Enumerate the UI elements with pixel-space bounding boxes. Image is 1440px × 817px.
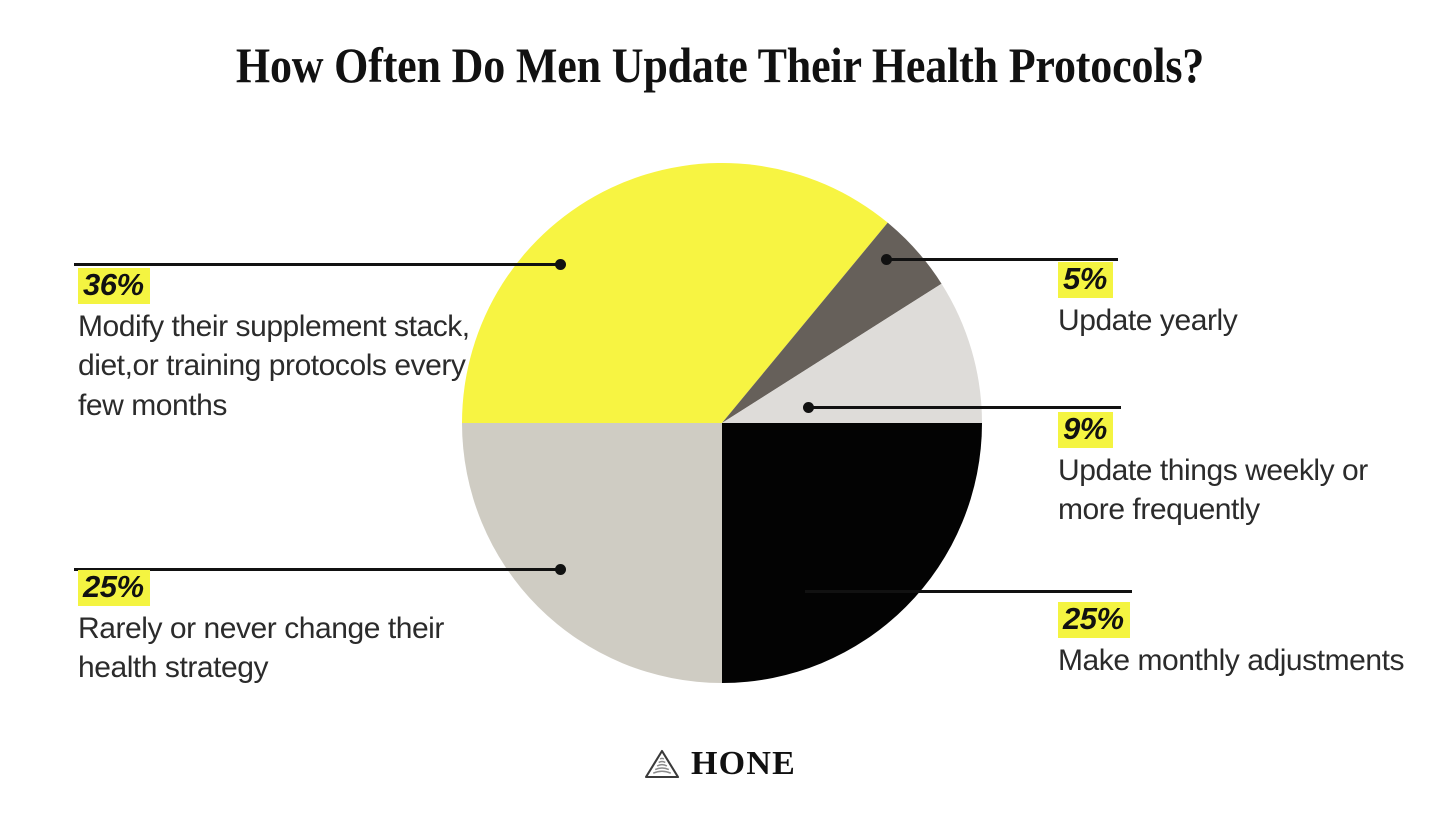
pie-chart-svg — [462, 163, 982, 683]
callout-percent-weekly: 9% — [1058, 412, 1113, 448]
callout-description-weekly: Update things weekly or more frequently — [1058, 451, 1428, 530]
callout-weekly: 9% Update things weekly or more frequent… — [1058, 412, 1428, 530]
callout-percent-monthly: 25% — [1058, 602, 1130, 638]
callout-percent-rarely: 25% — [78, 570, 150, 606]
leader-line-stroke — [74, 263, 562, 266]
pie-slice-rarely-or-never[interactable] — [462, 423, 722, 683]
leader-line-stroke — [808, 406, 1121, 409]
leader-line-stroke — [805, 590, 1132, 593]
pie-chart — [462, 163, 982, 683]
callout-description-yearly: Update yearly — [1058, 301, 1418, 341]
callout-description-modify: Modify their supplement stack, diet,or t… — [78, 307, 498, 426]
brand-logo: HONE — [0, 747, 1440, 781]
callout-modify: 36% Modify their supplement stack, diet,… — [78, 268, 498, 426]
callout-percent-yearly: 5% — [1058, 262, 1113, 298]
callout-description-monthly: Make monthly adjustments — [1058, 641, 1418, 681]
callout-rarely: 25% Rarely or never change their health … — [78, 570, 498, 688]
triangle-stripes-icon — [644, 749, 680, 779]
callout-description-rarely: Rarely or never change their health stra… — [78, 609, 498, 688]
leader-line-dot — [555, 564, 566, 575]
pie-slice-monthly-adjustments[interactable] — [722, 423, 982, 683]
page-title: How Often Do Men Update Their Health Pro… — [86, 36, 1353, 94]
callout-percent-modify: 36% — [78, 268, 150, 304]
leader-line-dot — [555, 259, 566, 270]
brand-name: HONE — [691, 747, 796, 781]
callout-yearly: 5% Update yearly — [1058, 262, 1418, 340]
callout-monthly: 25% Make monthly adjustments — [1058, 602, 1418, 680]
